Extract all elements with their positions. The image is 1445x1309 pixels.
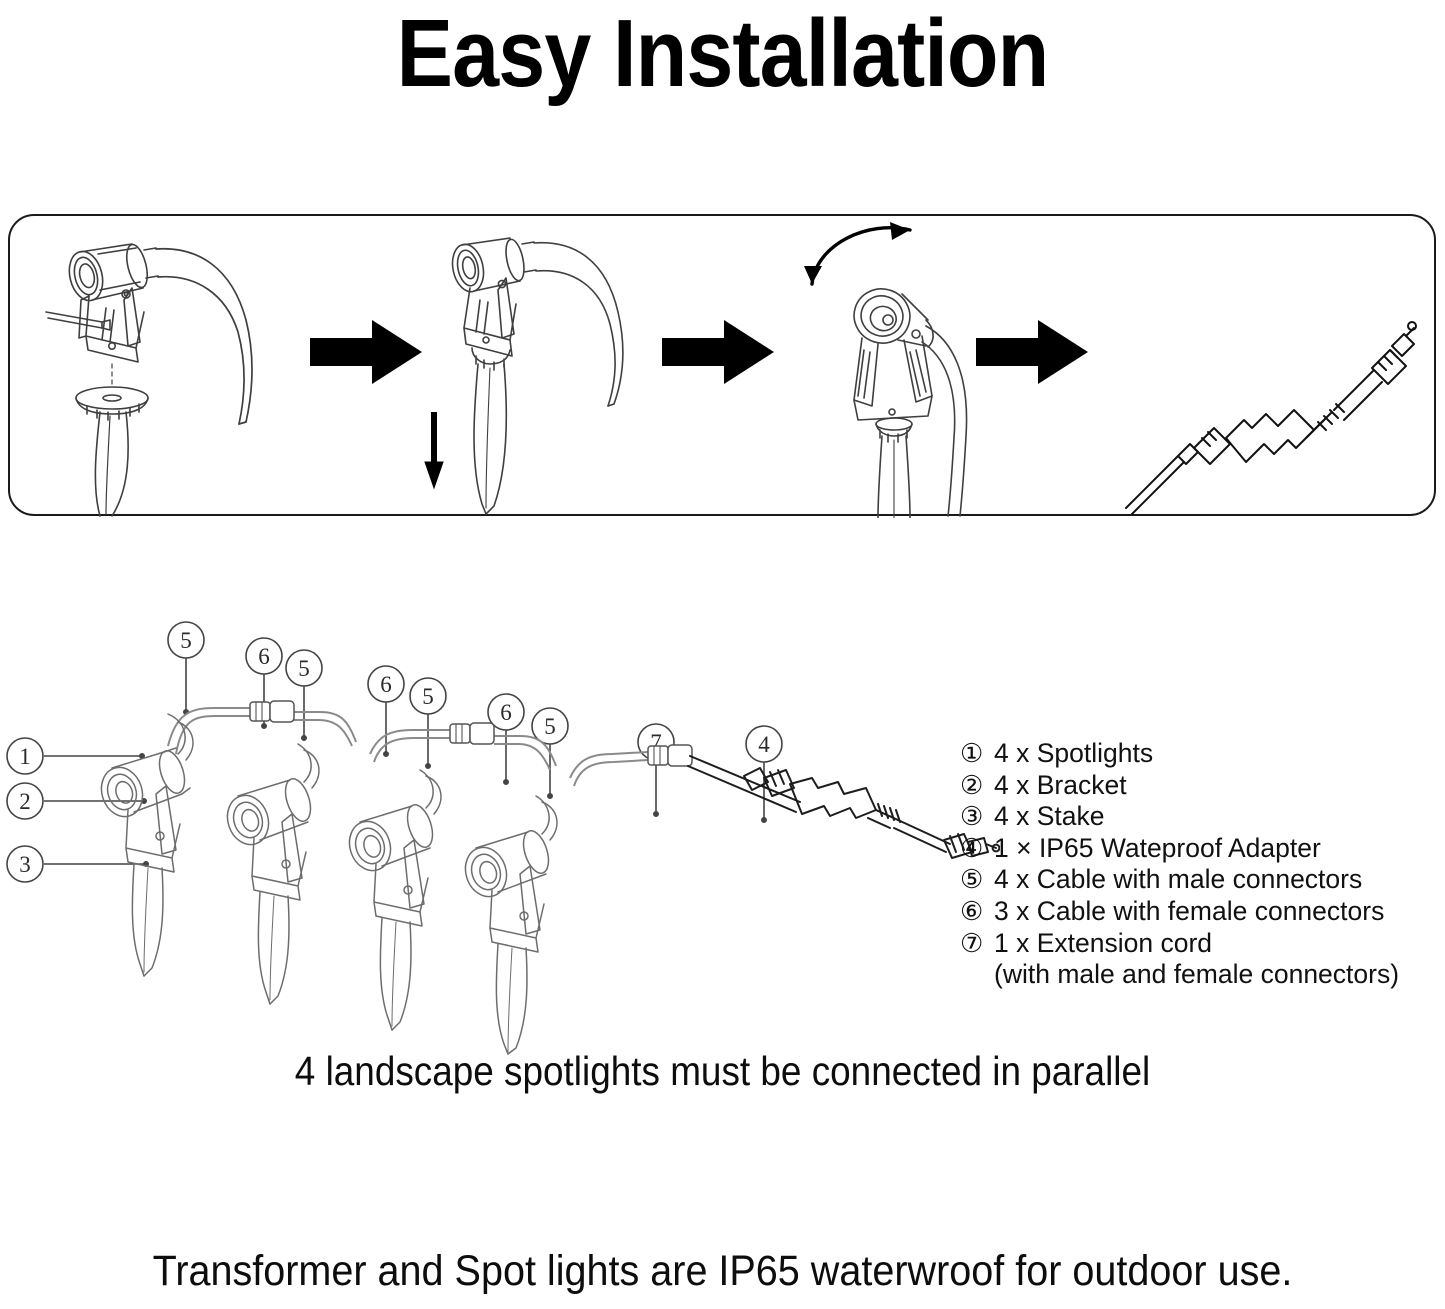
installation-steps-panel (8, 214, 1436, 516)
callout-1: 1 (19, 744, 31, 769)
legend-label-2: 4 x Bracket (994, 770, 1127, 802)
callout-3: 3 (19, 852, 31, 877)
connector-pair-1 (250, 701, 294, 722)
rotate-arrow-icon (804, 222, 910, 284)
step-arrow-1 (306, 312, 426, 392)
legend-number-4: ④ (960, 833, 994, 865)
legend-item-1: ①4 x Spotlights (960, 738, 1440, 770)
legend-item-7: ⑦1 x Extension cord (960, 928, 1440, 960)
legend-number-6: ⑥ (960, 896, 994, 928)
connector-pair-2 (450, 723, 494, 744)
callout-5a: 5 (180, 628, 192, 653)
step-arrow-2 (658, 312, 778, 392)
legend-item-2: ②4 x Bracket (960, 770, 1440, 802)
callout-5b: 5 (298, 656, 310, 681)
step-1-attach-stake (40, 216, 310, 518)
spotlight-3 (343, 770, 441, 1030)
legend-label-3: 4 x Stake (994, 801, 1104, 833)
callout-5d: 5 (544, 714, 556, 739)
parallel-wiring-diagram: 1 2 3 5 6 5 6 5 6 5 7 4 (0, 596, 1000, 1056)
legend-label-7: 1 x Extension cord (994, 928, 1212, 960)
legend-number-2: ② (960, 770, 994, 802)
legend-label-1: 4 x Spotlights (994, 738, 1153, 770)
parallel-connection-caption: 4 landscape spotlights must be connected… (72, 1046, 1373, 1096)
step-arrow-3 (972, 312, 1092, 392)
legend-item-3: ③4 x Stake (960, 801, 1440, 833)
legend-number-5: ⑤ (960, 864, 994, 896)
legend-number-3: ③ (960, 801, 994, 833)
waterproof-footer-caption: Transformer and Spot lights are IP65 wat… (58, 1244, 1387, 1298)
callout-6b: 6 (380, 672, 392, 697)
spotlight-2 (221, 744, 319, 1004)
legend-item-7-continuation: (with male and female connectors) (960, 959, 1440, 991)
callout-6c: 6 (500, 700, 512, 725)
callout-5c: 5 (422, 684, 434, 709)
spotlight-4 (459, 796, 557, 1054)
page-title: Easy Installation (87, 2, 1359, 106)
callout-4: 4 (758, 732, 770, 757)
legend-item-4: ④1 × IP65 Wateproof Adapter (960, 833, 1440, 865)
legend-item-5: ⑤4 x Cable with male connectors (960, 864, 1440, 896)
legend-label-4: 1 × IP65 Wateproof Adapter (994, 833, 1321, 865)
right-arrow-icon (310, 320, 422, 384)
legend-label-5: 4 x Cable with male connectors (994, 864, 1362, 896)
callout-6a: 6 (258, 644, 270, 669)
right-arrow-icon (976, 320, 1088, 384)
legend-item-6: ⑥3 x Cable with female connectors (960, 896, 1440, 928)
callout-2: 2 (19, 789, 31, 814)
spotlight-1 (95, 714, 193, 976)
parts-legend: ①4 x Spotlights ②4 x Bracket ③4 x Stake … (960, 738, 1440, 991)
down-arrow-icon (425, 412, 443, 488)
step-2-insert-into-ground (424, 216, 694, 518)
step-4-connect-adapter (1118, 216, 1418, 518)
legend-number-1: ① (960, 738, 994, 770)
legend-number-7: ⑦ (960, 928, 994, 960)
connector-pair-3 (648, 745, 692, 766)
instruction-sheet: Easy Installation (0, 0, 1445, 1309)
legend-label-7-continuation: (with male and female connectors) (994, 959, 1399, 991)
legend-label-6: 3 x Cable with female connectors (994, 896, 1384, 928)
right-arrow-icon (662, 320, 774, 384)
